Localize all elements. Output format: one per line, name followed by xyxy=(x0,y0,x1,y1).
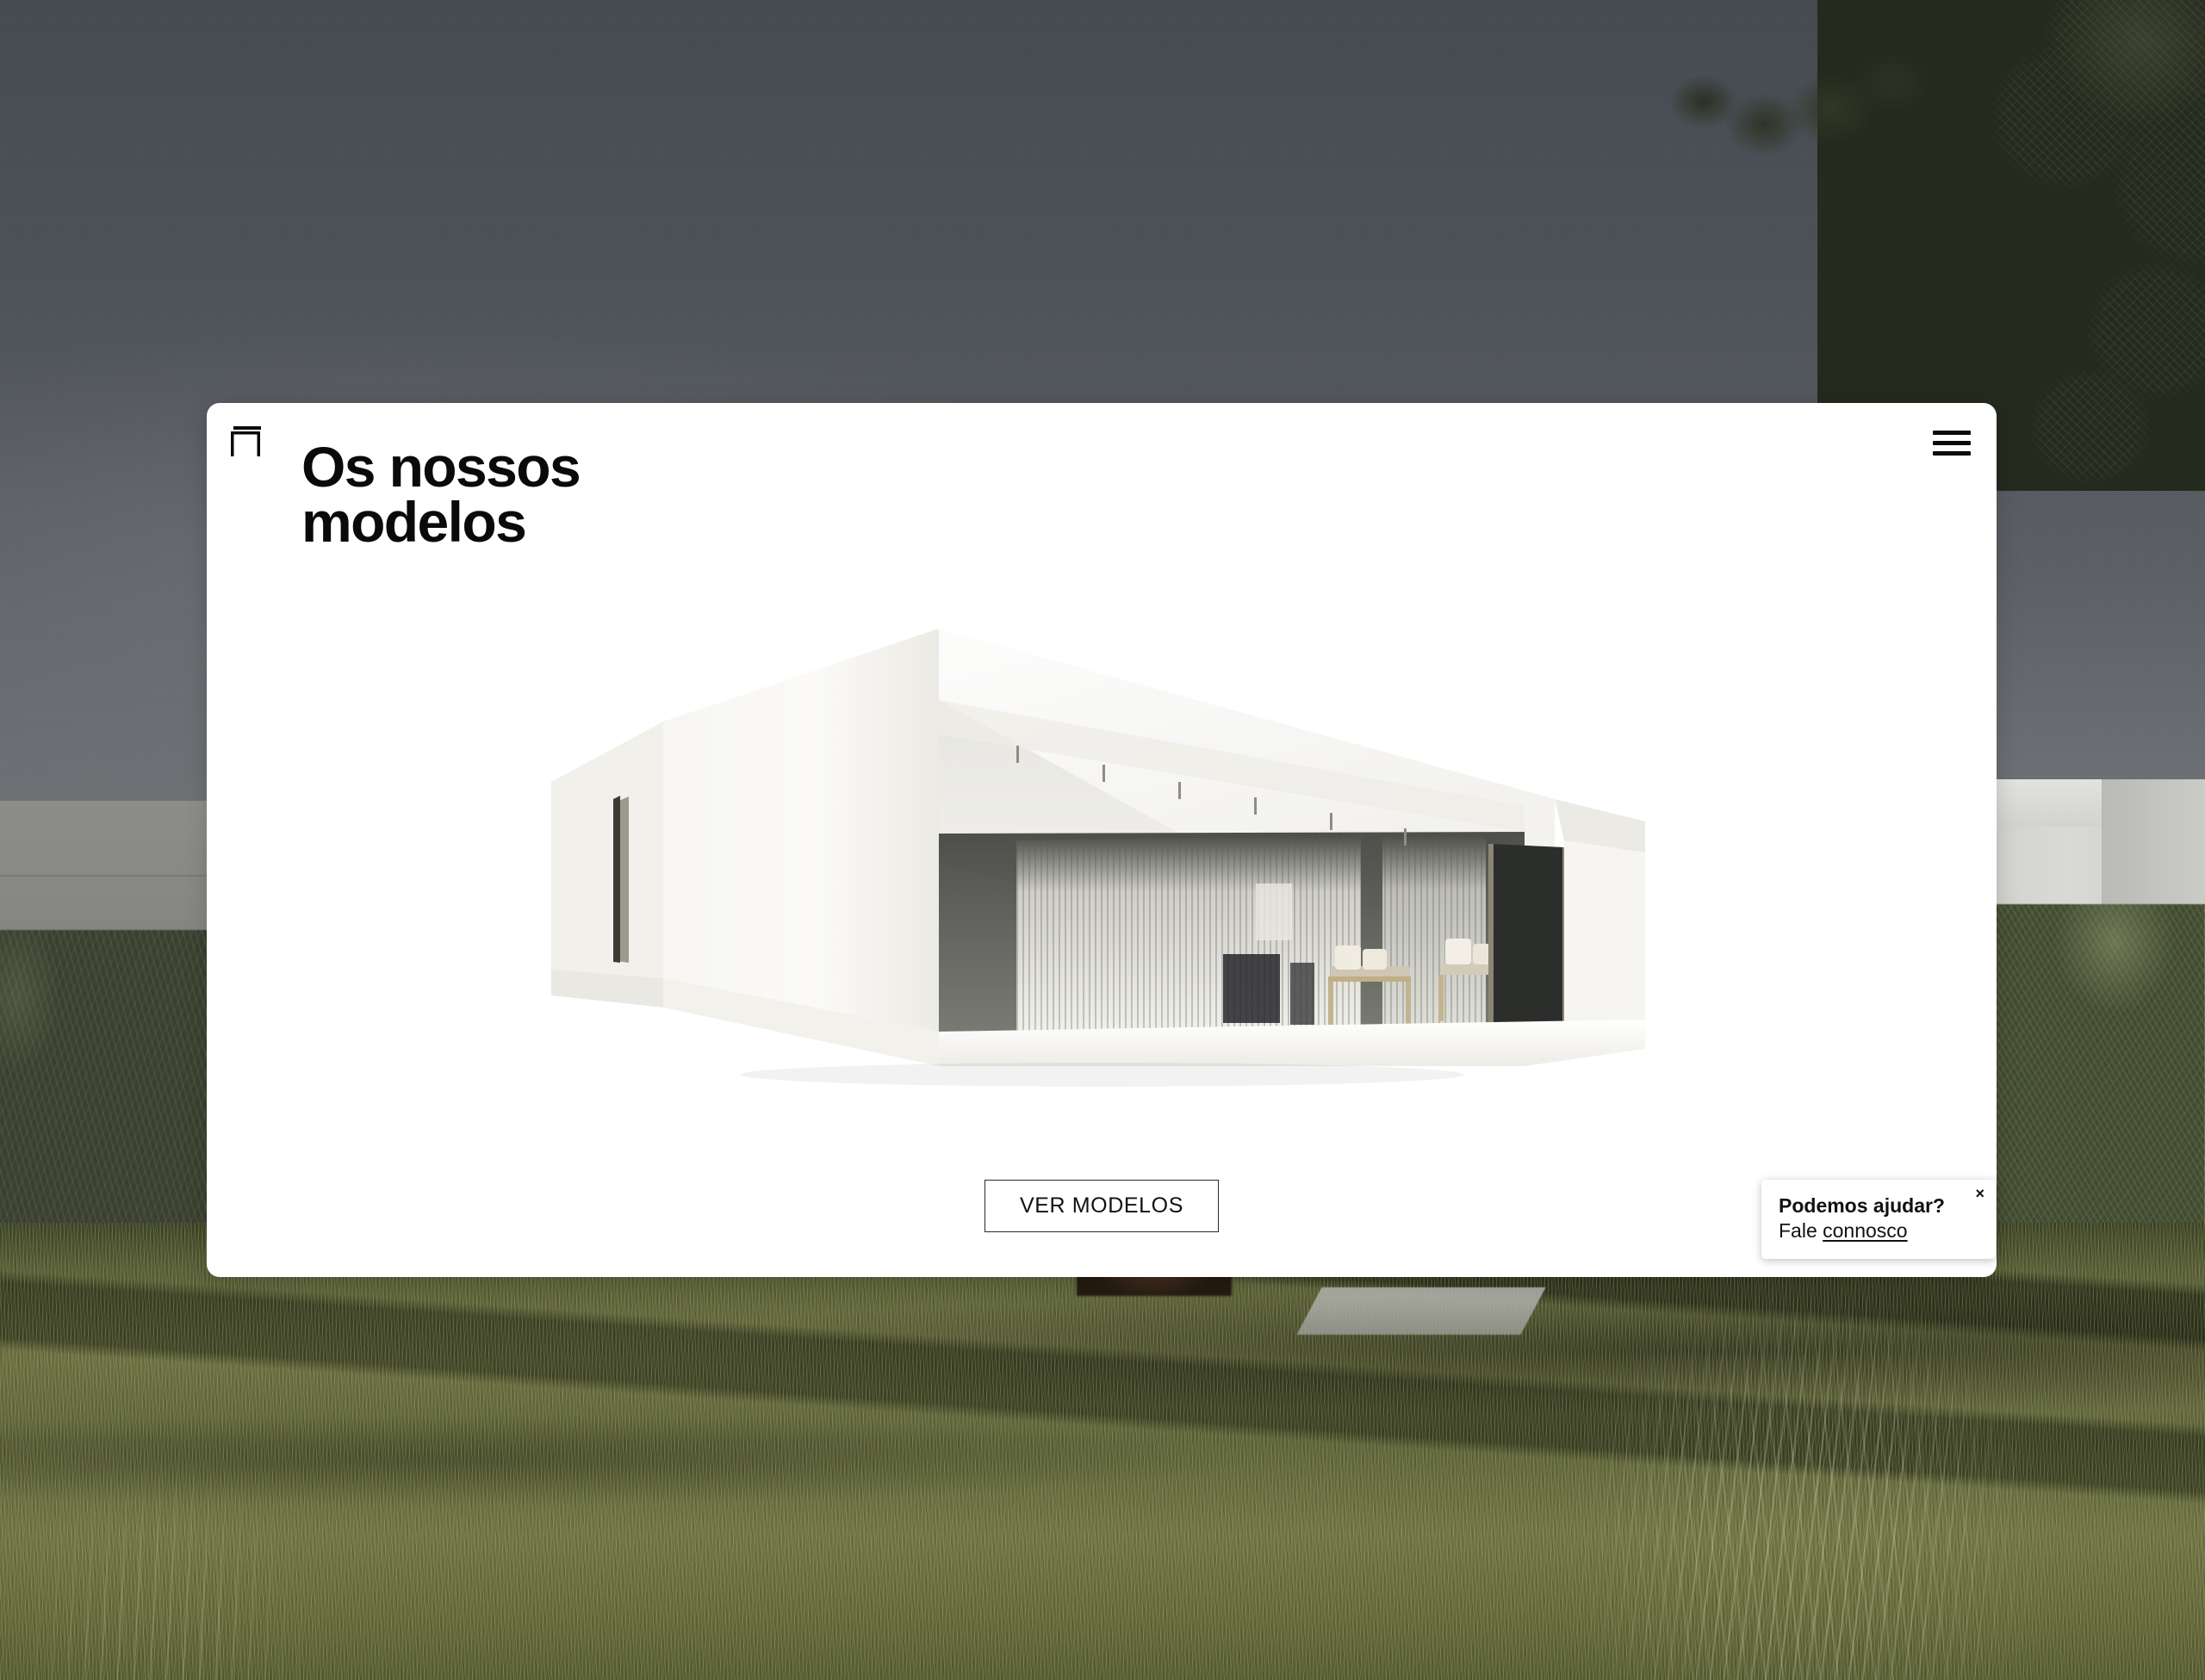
hamburger-line-1 xyxy=(1933,431,1971,435)
background-paving xyxy=(1296,1287,1545,1335)
chat-contact-link[interactable]: connosco xyxy=(1823,1219,1907,1242)
chat-widget-subtitle: Fale connosco xyxy=(1779,1219,1978,1242)
chat-widget-title: Podemos ajudar? xyxy=(1779,1194,1978,1217)
hamburger-line-2 xyxy=(1933,441,1971,445)
tree-branch xyxy=(1671,26,1947,215)
cta-container: VER MODELOS xyxy=(207,1180,1997,1232)
close-icon[interactable]: × xyxy=(1975,1186,1984,1201)
hamburger-line-3 xyxy=(1933,451,1971,456)
hamburger-menu-button[interactable] xyxy=(1933,425,1971,460)
page-title: Os nossos modelos xyxy=(301,439,580,549)
chat-widget[interactable]: × Podemos ajudar? Fale connosco xyxy=(1761,1180,1996,1259)
ver-modelos-button[interactable]: VER MODELOS xyxy=(984,1180,1219,1232)
modular-house-illustration xyxy=(534,618,1671,1118)
chat-prefix-text: Fale xyxy=(1779,1219,1823,1242)
house-render-image xyxy=(534,618,1671,1118)
dry-grass-tufts-left xyxy=(34,1370,362,1680)
open-box-icon xyxy=(229,424,269,460)
content-card: Os nossos modelos xyxy=(207,403,1997,1277)
brand-logo-mark[interactable] xyxy=(229,424,269,460)
